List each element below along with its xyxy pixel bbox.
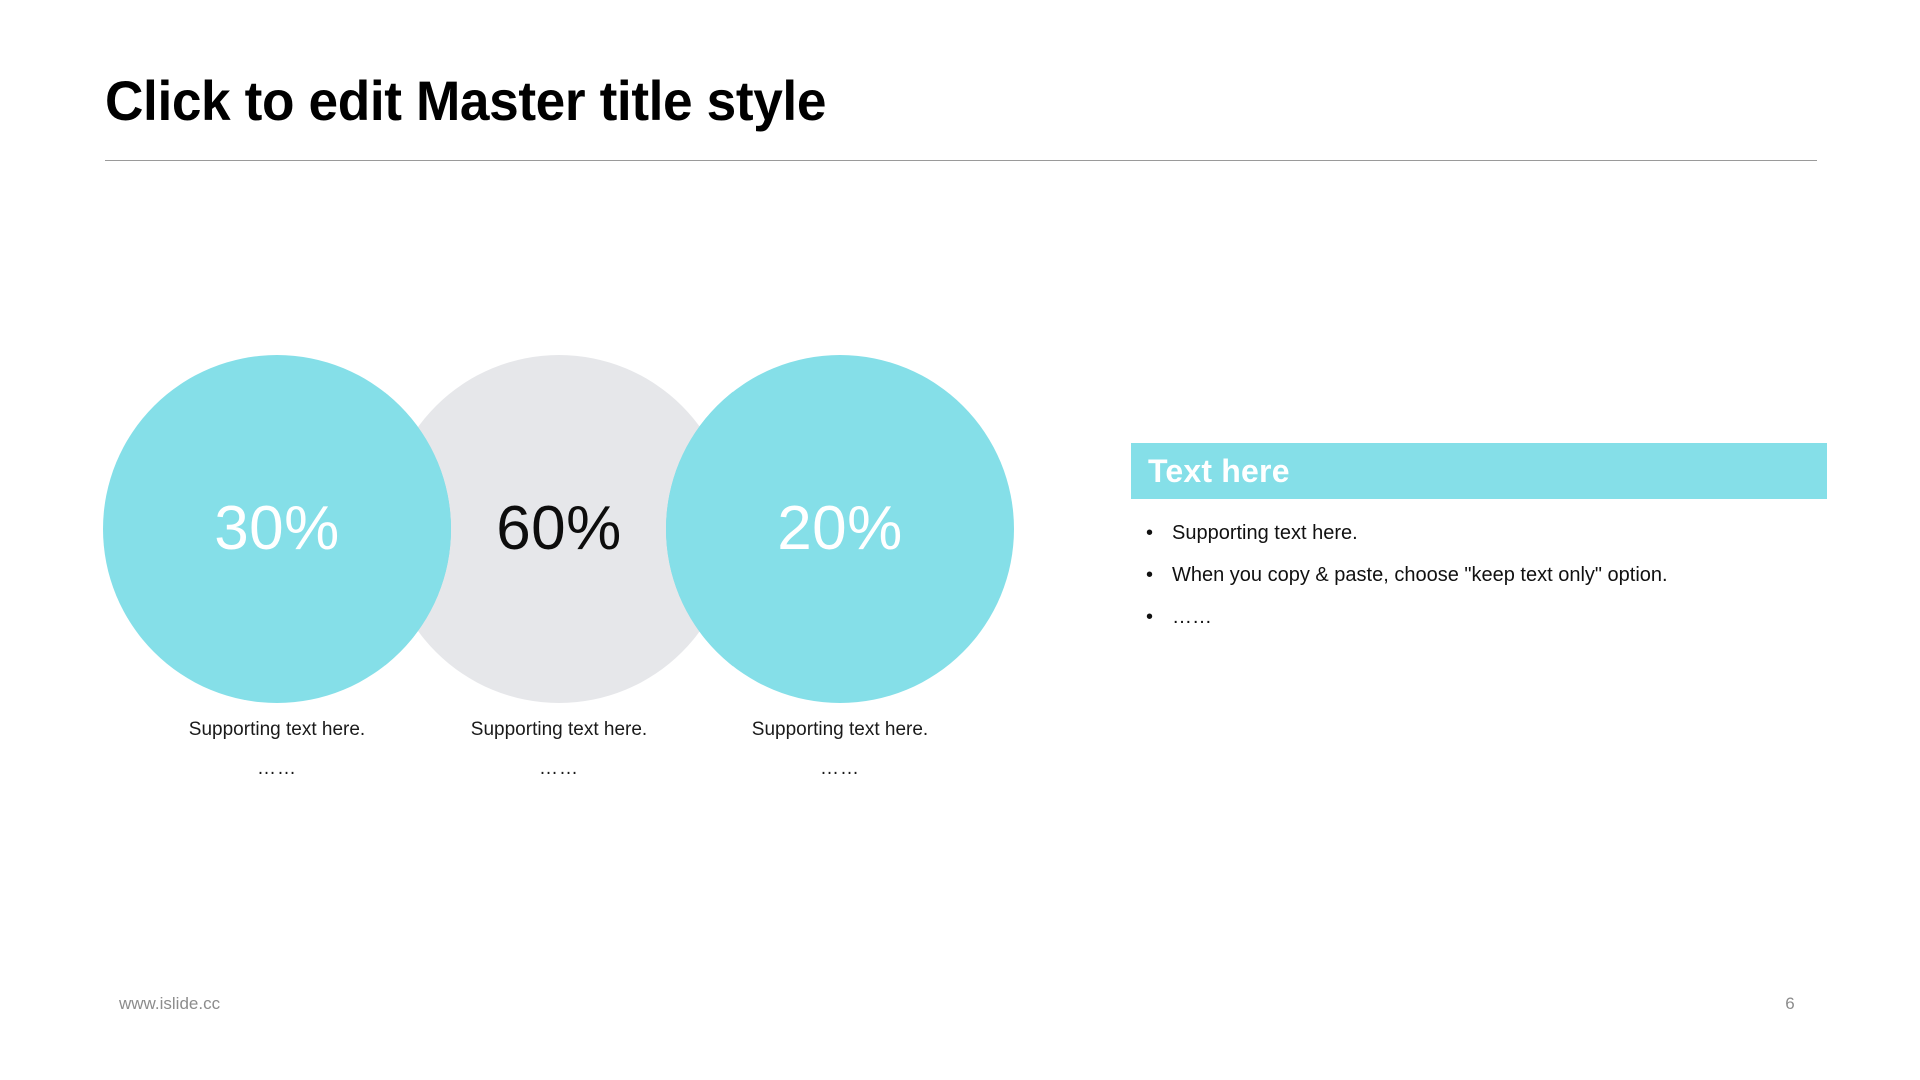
text-panel: Text here • Supporting text here. • When…	[1131, 443, 1827, 630]
title-divider	[105, 160, 1817, 161]
list-item[interactable]: • When you copy & paste, choose "keep te…	[1146, 563, 1827, 588]
title-block: Click to edit Master title style	[105, 72, 1817, 131]
percent-label-2: 60%	[496, 498, 622, 560]
percent-label-1: 30%	[214, 498, 340, 560]
circle-captions-group: Supporting text here. …… Supporting text…	[100, 720, 1010, 810]
bullet-list: • Supporting text here. • When you copy …	[1131, 521, 1827, 630]
slide-canvas: Click to edit Master title style 60% 30%…	[0, 0, 1920, 1080]
circle-caption-3-text: Supporting text here.	[666, 720, 1014, 739]
circle-caption-3[interactable]: Supporting text here. ……	[666, 720, 1014, 778]
bullet-marker-icon: •	[1146, 605, 1172, 630]
text-panel-header[interactable]: Text here	[1131, 443, 1827, 499]
percent-circle-3[interactable]: 20%	[666, 355, 1014, 703]
bullet-text-2: When you copy & paste, choose "keep text…	[1172, 563, 1827, 588]
circle-caption-3-subtext: ……	[666, 759, 1014, 778]
bullet-marker-icon: •	[1146, 563, 1172, 588]
list-item[interactable]: • ……	[1146, 605, 1827, 630]
slide-page-number: 6	[1770, 995, 1810, 1012]
bullet-text-3: ……	[1172, 605, 1827, 630]
bullet-marker-icon: •	[1146, 521, 1172, 546]
bullet-text-1: Supporting text here.	[1172, 521, 1827, 546]
page-title[interactable]: Click to edit Master title style	[105, 72, 1731, 131]
percent-circle-1[interactable]: 30%	[103, 355, 451, 703]
percent-circles-group: 60% 30% 20%	[100, 355, 1010, 705]
footer-url[interactable]: www.islide.cc	[119, 995, 220, 1012]
text-panel-header-label: Text here	[1148, 455, 1290, 487]
list-item[interactable]: • Supporting text here.	[1146, 521, 1827, 546]
percent-label-3: 20%	[777, 498, 903, 560]
